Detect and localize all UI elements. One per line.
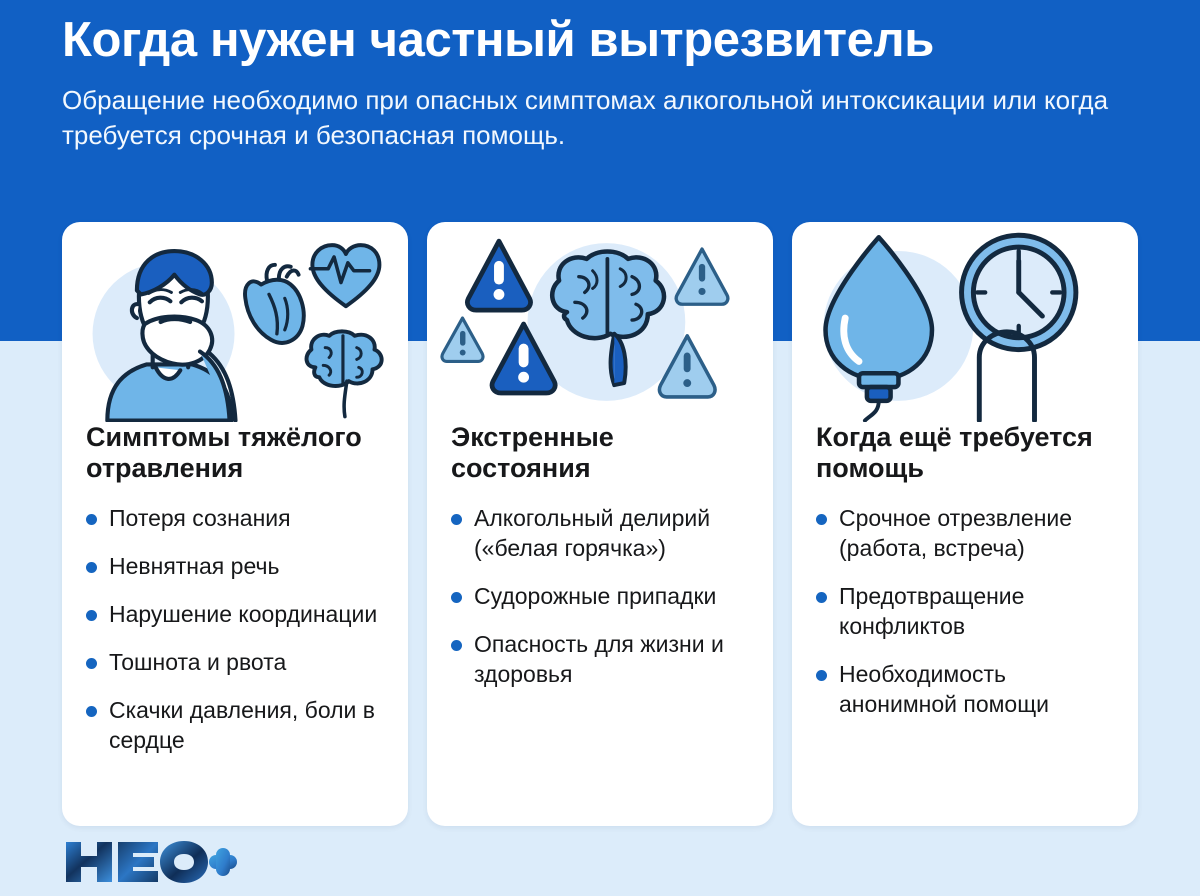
list-item-label: Судорожные припадки (474, 582, 716, 612)
header: Когда нужен частный вытрезвитель Обращен… (62, 14, 1152, 153)
list-item-label: Срочное отрезвление (работа, встреча) (839, 504, 1114, 564)
card-body: Когда ещё требуется помощь Срочное отрез… (792, 422, 1138, 826)
card-title: Симптомы тяжёлого отравления (86, 422, 384, 484)
bullet-list: Потеря сознания Невнятная речь Нарушение… (86, 504, 384, 755)
card-body: Симптомы тяжёлого отравления Потеря созн… (62, 422, 408, 826)
bullet-dot-icon (816, 670, 827, 681)
infographic-page: Когда нужен частный вытрезвитель Обращен… (0, 0, 1200, 896)
list-item-label: Предотвращение конфликтов (839, 582, 1114, 642)
list-item: Срочное отрезвление (работа, встреча) (816, 504, 1114, 564)
list-item-label: Необходимость анонимной помощи (839, 660, 1114, 720)
card-additional-help-cases: Когда ещё требуется помощь Срочное отрез… (792, 222, 1138, 826)
list-item: Алкогольный делирий («белая горячка») (451, 504, 749, 564)
card-list: Симптомы тяжёлого отравления Потеря созн… (62, 222, 1138, 826)
bullet-dot-icon (451, 514, 462, 525)
list-item-label: Нарушение координации (109, 600, 377, 630)
bullet-dot-icon (86, 658, 97, 669)
card-body: Экстренные состояния Алкогольный делирий… (427, 422, 773, 826)
bullet-dot-icon (816, 592, 827, 603)
list-item: Нарушение координации (86, 600, 384, 630)
list-item-label: Потеря сознания (109, 504, 291, 534)
list-item: Тошнота и рвота (86, 648, 384, 678)
list-item-label: Алкогольный делирий («белая горячка») (474, 504, 749, 564)
page-subtitle: Обращение необходимо при опасных симптом… (62, 83, 1152, 153)
page-title: Когда нужен частный вытрезвитель (62, 14, 1152, 67)
brain-warning-triangles-icon (427, 222, 773, 422)
list-item-label: Скачки давления, боли в сердце (109, 696, 384, 756)
list-item-label: Невнятная речь (109, 552, 279, 582)
card-title: Когда ещё требуется помощь (816, 422, 1114, 484)
neo-plus-logo-mark (62, 839, 238, 885)
bullet-dot-icon (816, 514, 827, 525)
bullet-dot-icon (86, 706, 97, 717)
list-item: Скачки давления, боли в сердце (86, 696, 384, 756)
list-item: Судорожные припадки (451, 582, 749, 612)
bullet-dot-icon (451, 640, 462, 651)
bullet-dot-icon (86, 562, 97, 573)
bullet-dot-icon (86, 610, 97, 621)
bullet-dot-icon (451, 592, 462, 603)
iv-drip-clock-icon (792, 222, 1138, 422)
card-emergency-conditions: Экстренные состояния Алкогольный делирий… (427, 222, 773, 826)
list-item-label: Тошнота и рвота (109, 648, 286, 678)
bullet-dot-icon (86, 514, 97, 525)
list-item: Невнятная речь (86, 552, 384, 582)
neo-plus-logo (62, 840, 238, 884)
nauseated-man-heart-brain-icon (62, 222, 408, 422)
bullet-list: Срочное отрезвление (работа, встреча) Пр… (816, 504, 1114, 719)
list-item: Предотвращение конфликтов (816, 582, 1114, 642)
bullet-list: Алкогольный делирий («белая горячка») Су… (451, 504, 749, 689)
list-item: Опасность для жизни и здоровья (451, 630, 749, 690)
card-severe-poisoning-symptoms: Симптомы тяжёлого отравления Потеря созн… (62, 222, 408, 826)
list-item: Потеря сознания (86, 504, 384, 534)
card-title: Экстренные состояния (451, 422, 749, 484)
list-item-label: Опасность для жизни и здоровья (474, 630, 749, 690)
list-item: Необходимость анонимной помощи (816, 660, 1114, 720)
